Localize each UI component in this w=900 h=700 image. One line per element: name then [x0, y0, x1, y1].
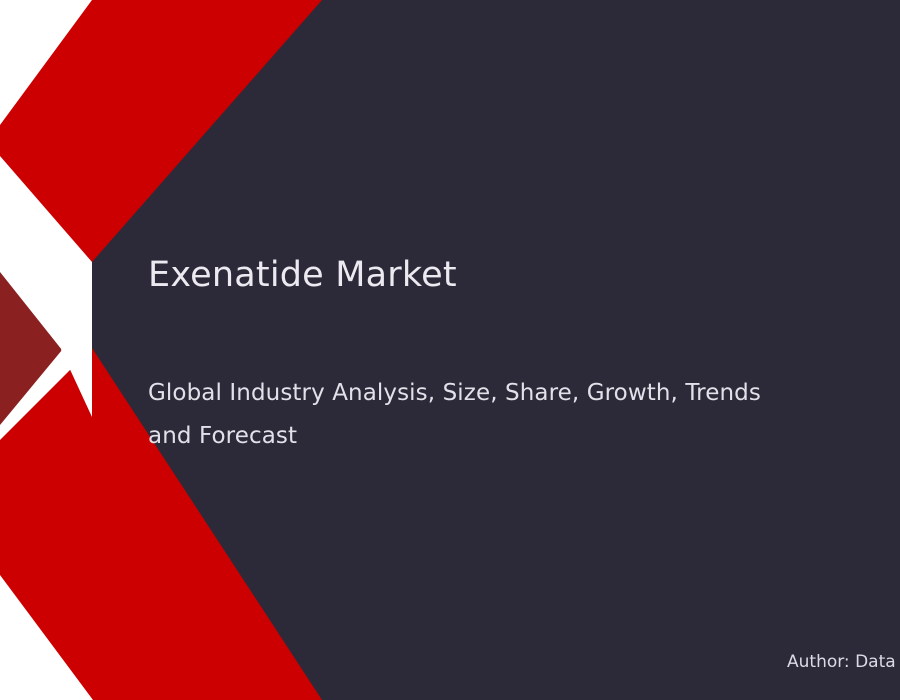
slide-subtitle: Global Industry Analysis, Size, Share, G…: [148, 372, 788, 458]
slide-title: Exenatide Market: [148, 255, 848, 295]
slide-content: Exenatide Market Global Industry Analysi…: [0, 0, 900, 700]
slide-author-credit: Author: Data: [787, 652, 896, 672]
presentation-slide: Exenatide Market Global Industry Analysi…: [0, 0, 900, 700]
